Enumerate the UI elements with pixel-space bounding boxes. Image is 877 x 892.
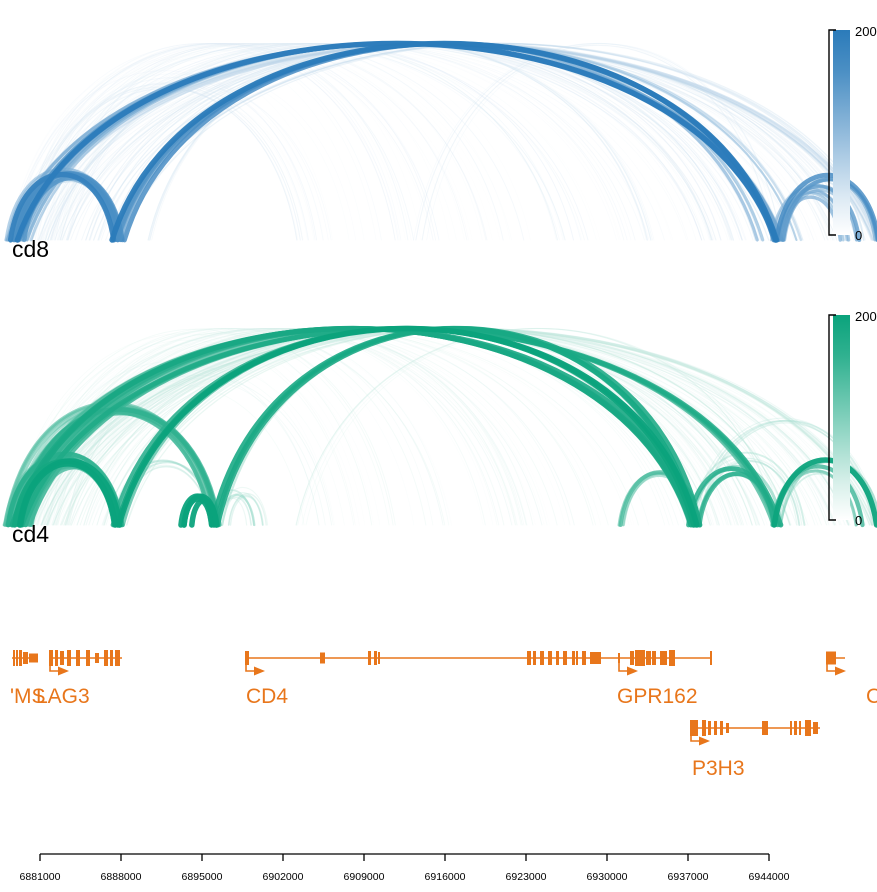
colorbar-min-label: 0 [855, 228, 862, 243]
axis-ticks: 6881000688800068950006902000690900069160… [0, 845, 877, 892]
exon [714, 721, 717, 735]
exon [794, 721, 797, 735]
exon [76, 650, 80, 666]
sashimi-arcs-cd8: 2000 [0, 0, 877, 285]
panel-cd4: 2000 [0, 285, 877, 570]
gene-label-cd4: CD4 [246, 685, 288, 708]
sashimi-arcs-cd4: 2000 [0, 285, 877, 570]
exon [576, 651, 578, 665]
axis-tick-label: 6888000 [101, 871, 142, 883]
exon [29, 654, 38, 663]
exon [86, 650, 90, 666]
axis-tick-label: 6895000 [182, 871, 223, 883]
exon [374, 651, 377, 665]
exon [646, 651, 651, 665]
exon [652, 651, 656, 665]
exon [556, 651, 559, 665]
exon [548, 651, 552, 665]
exon [799, 721, 801, 735]
sample-label-cd4: cd4 [12, 521, 49, 548]
gene-models: 'MSLAG3CD4GPR162CP3H3 [0, 600, 877, 850]
exon [533, 651, 536, 665]
exon [664, 651, 667, 665]
axis-tick-label: 6881000 [20, 871, 61, 883]
gene-label-c: C [866, 685, 877, 708]
axis-tick-label: 6937000 [668, 871, 709, 883]
axis-tick-label: 6930000 [587, 871, 628, 883]
colorbar-max-label: 200 [855, 24, 877, 39]
exon [669, 650, 675, 666]
gene-track: 'MSLAG3CD4GPR162CP3H3 [0, 600, 877, 850]
exon [726, 723, 729, 733]
exon [635, 650, 645, 666]
exon [104, 650, 108, 666]
gene-label-p3h3: P3H3 [692, 757, 745, 780]
exon [378, 652, 380, 664]
exon [790, 721, 792, 735]
exon [67, 650, 71, 666]
exon [60, 651, 64, 665]
colorbar-max-label: 200 [855, 309, 877, 324]
exon [572, 651, 575, 665]
exon [95, 653, 99, 663]
axis-tick-label: 6902000 [263, 871, 304, 883]
exon [320, 653, 325, 664]
exon [540, 651, 544, 665]
axis-tick-label: 6923000 [506, 871, 547, 883]
genomic-axis: 6881000688800068950006902000690900069160… [0, 845, 877, 892]
exon [23, 652, 28, 664]
panel-cd8: 2000 [0, 0, 877, 285]
exon [630, 651, 634, 665]
exon [710, 651, 712, 665]
exon [368, 651, 371, 665]
exon [55, 650, 58, 666]
exon [708, 721, 711, 735]
exon [805, 720, 811, 736]
exon [115, 650, 120, 666]
axis-tick-label: 6944000 [749, 871, 790, 883]
exon [813, 722, 818, 734]
exon [720, 721, 723, 735]
exon [19, 650, 22, 666]
gene-label-gpr162: GPR162 [617, 685, 698, 708]
exon [582, 651, 586, 665]
exon [563, 651, 567, 665]
exon [590, 652, 601, 664]
sample-label-cd8: cd8 [12, 236, 49, 263]
axis-tick-label: 6916000 [425, 871, 466, 883]
axis-tick-label: 6909000 [344, 871, 385, 883]
exon [13, 650, 15, 666]
exon [660, 651, 664, 665]
exon [527, 651, 531, 665]
exon [110, 650, 113, 666]
exon [702, 720, 706, 736]
gene-label-lag3: LAG3 [36, 685, 90, 708]
colorbar-min-label: 0 [855, 513, 862, 528]
exon [762, 721, 768, 735]
figure-root: 2000 cd8 2000 cd4 'MSLAG3CD4GPR162CP3H3 … [0, 0, 877, 892]
exon [16, 650, 18, 666]
